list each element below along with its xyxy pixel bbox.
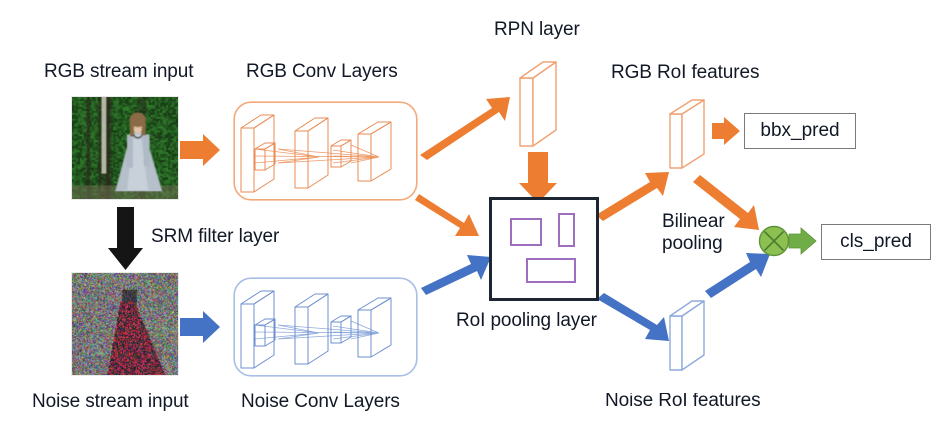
label-bilinear-pooling-line2: pooling bbox=[662, 233, 725, 255]
arrow-noise-conv-to-roi-pooling bbox=[421, 255, 491, 295]
cls-pred-box[interactable]: cls_pred bbox=[821, 224, 931, 260]
arrow-rpn-to-roi-pooling bbox=[519, 152, 557, 203]
arrow-roi-pooling-to-noise-features bbox=[597, 293, 669, 341]
label-roi-pooling-layer: RoI pooling layer bbox=[456, 310, 597, 332]
label-noise-stream-input: Noise stream input bbox=[32, 391, 189, 413]
label-rpn-layer: RPN layer bbox=[494, 19, 580, 41]
arrow-conv-to-rpn bbox=[420, 97, 510, 160]
arrow-conv-to-roi-pooling bbox=[415, 194, 479, 236]
label-bilinear-pooling: Bilinear pooling bbox=[662, 211, 725, 255]
arrow-rgb-input-to-conv bbox=[180, 134, 220, 166]
label-noise-roi-features: Noise RoI features bbox=[605, 393, 805, 412]
noise-roi-features-slab bbox=[664, 296, 714, 376]
arrow-rgb-features-to-bbx-pred bbox=[712, 117, 740, 145]
label-rgb-roi-features: RGB RoI features bbox=[611, 62, 759, 84]
label-srm-filter-layer: SRM filter layer bbox=[151, 226, 279, 248]
roi-proposal-rect bbox=[510, 218, 542, 246]
label-rgb-conv-layers: RGB Conv Layers bbox=[246, 61, 398, 83]
label-rgb-stream-input: RGB stream input bbox=[44, 61, 193, 83]
label-noise-roi-features-clip: Noise RoI features bbox=[605, 393, 805, 413]
arrow-roi-pooling-to-rgb-features bbox=[596, 172, 669, 221]
arrow-srm-filter-down bbox=[108, 207, 143, 270]
noise-conv-layers-box bbox=[233, 277, 418, 377]
roi-pooling-layer-box bbox=[489, 197, 599, 301]
rgb-conv-layers-box bbox=[233, 101, 418, 201]
architecture-diagram: RGB stream input RGB Conv Layers RPN lay… bbox=[0, 0, 945, 437]
bilinear-pooling-operator bbox=[757, 224, 791, 258]
roi-proposal-rect bbox=[558, 213, 575, 247]
arrow-bilinear-to-cls-pred bbox=[789, 228, 816, 254]
rpn-layer-slab bbox=[514, 56, 566, 152]
label-bilinear-pooling-line1: Bilinear bbox=[662, 211, 725, 233]
rgb-roi-features-slab bbox=[664, 96, 714, 174]
roi-proposal-rect bbox=[526, 258, 576, 283]
arrow-noise-features-to-bilinear bbox=[705, 253, 770, 298]
noise-stream-input-thumbnail bbox=[71, 272, 179, 376]
rgb-stream-input-thumbnail bbox=[71, 96, 179, 200]
arrow-noise-input-to-conv bbox=[180, 311, 220, 343]
bbx-pred-box[interactable]: bbx_pred bbox=[744, 113, 856, 149]
label-noise-conv-layers: Noise Conv Layers bbox=[241, 391, 400, 413]
